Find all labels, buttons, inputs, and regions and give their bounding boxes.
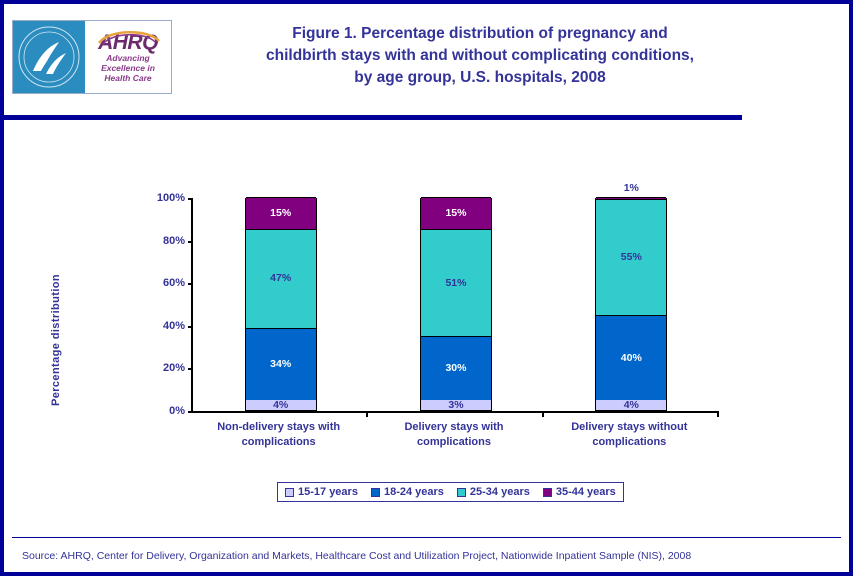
bar-segment[interactable]: 40% (596, 315, 666, 399)
bar-slot: 15%47%34%4% (193, 198, 368, 411)
x-axis-label: Delivery stays withcomplications (366, 420, 541, 449)
legend-item[interactable]: 15-17 years (285, 486, 358, 498)
bar-segment-label: 34% (270, 359, 291, 370)
figure-title-line-3: by age group, U.S. hospitals, 2008 (180, 67, 780, 89)
x-axis-label-line: Delivery stays with (372, 420, 535, 435)
legend-label: 15-17 years (298, 486, 358, 498)
stacked-bar[interactable]: 15%51%30%3% (420, 198, 492, 411)
legend-label: 35-44 years (556, 486, 616, 498)
x-axis-label: Non-delivery stays withcomplications (191, 420, 366, 449)
x-axis-label-line: complications (197, 435, 360, 450)
bar-slot: 15%51%30%3% (368, 198, 543, 411)
bar-slot: 1%55%40%4% (544, 198, 719, 411)
stacked-bar[interactable]: 15%47%34%4% (245, 198, 317, 411)
legend-item[interactable]: 35-44 years (543, 486, 616, 498)
bar-segment-label: 47% (270, 273, 291, 284)
x-axis-label-line: complications (372, 435, 535, 450)
x-axis-label-line: complications (548, 435, 711, 450)
bar-segment-label: 4% (624, 400, 639, 411)
y-axis-title: Percentage distribution (50, 260, 62, 420)
y-axis-tick: 60% (139, 277, 193, 289)
y-axis-tick: 0% (139, 405, 193, 417)
ahrq-logo: AHRQ Advancing Excellence in Health Care (12, 20, 172, 94)
bar-segment[interactable]: 15% (421, 197, 491, 229)
x-axis-label-line: Non-delivery stays with (197, 420, 360, 435)
legend-swatch (285, 488, 294, 497)
bar-segment[interactable]: 47% (246, 229, 316, 328)
legend-swatch (371, 488, 380, 497)
y-axis-tick: 40% (139, 320, 193, 332)
ahrq-tagline: Advancing Excellence in Health Care (101, 54, 155, 83)
figure-header: AHRQ Advancing Excellence in Health Care… (4, 4, 849, 108)
legend-swatch (457, 488, 466, 497)
bar-segment[interactable]: 30% (421, 336, 491, 399)
y-axis-tick: 100% (139, 192, 193, 204)
bar-segment-label: 15% (270, 208, 291, 219)
x-axis-tick (717, 411, 719, 417)
figure-title: Figure 1. Percentage distribution of pre… (180, 23, 780, 89)
y-axis-tick: 80% (139, 235, 193, 247)
ahrq-wordmark-block: AHRQ Advancing Excellence in Health Care (85, 21, 171, 93)
chart-legend: 15-17 years18-24 years25-34 years35-44 y… (277, 482, 624, 502)
source-note: Source: AHRQ, Center for Delivery, Organ… (22, 550, 691, 562)
chart: Percentage distribution 0%20%40%60%80%10… (4, 124, 849, 534)
bar-segment[interactable]: 4% (246, 400, 316, 411)
legend-label: 25-34 years (470, 486, 530, 498)
legend-item[interactable]: 25-34 years (457, 486, 530, 498)
ahrq-tagline-line-3: Health Care (101, 74, 155, 84)
legend-item[interactable]: 18-24 years (371, 486, 444, 498)
bar-segment[interactable]: 51% (421, 229, 491, 337)
legend-label: 18-24 years (384, 486, 444, 498)
bar-segment-label: 40% (621, 353, 642, 364)
x-axis-tick (366, 411, 368, 417)
bar-segment-label: 1% (624, 183, 639, 194)
y-axis-tick: 20% (139, 362, 193, 374)
stacked-bar[interactable]: 1%55%40%4% (595, 198, 667, 411)
bar-segment[interactable]: 15% (246, 197, 316, 229)
bar-segment[interactable]: 34% (246, 328, 316, 400)
bar-segment-label: 55% (621, 252, 642, 263)
bar-group: 15%47%34%4%15%51%30%3%1%55%40%4% (193, 198, 719, 411)
bar-segment[interactable]: 3% (421, 400, 491, 411)
figure-title-line-1: Figure 1. Percentage distribution of pre… (180, 23, 780, 45)
bar-segment-label: 30% (445, 363, 466, 374)
ahrq-arc-icon (97, 27, 161, 45)
bar-segment-label: 51% (445, 278, 466, 289)
x-axis-label-line: Delivery stays without (548, 420, 711, 435)
footer-divider (12, 537, 841, 538)
figure-page: AHRQ Advancing Excellence in Health Care… (0, 0, 853, 576)
hhs-seal-icon (13, 21, 85, 93)
x-axis-tick (542, 411, 544, 417)
bar-segment-label: 3% (448, 400, 463, 411)
bar-segment[interactable]: 4% (596, 400, 666, 411)
x-axis-label: Delivery stays withoutcomplications (542, 420, 717, 449)
plot-area: 0%20%40%60%80%100% 15%47%34%4%15%51%30%3… (191, 198, 719, 413)
legend-swatch (543, 488, 552, 497)
figure-title-line-2: childbirth stays with and without compli… (180, 45, 780, 67)
x-axis-labels: Non-delivery stays withcomplicationsDeli… (191, 420, 717, 449)
header-divider (4, 115, 742, 120)
bar-segment-label: 4% (273, 400, 288, 411)
bar-segment-label: 15% (445, 208, 466, 219)
bar-segment[interactable]: 55% (596, 199, 666, 315)
